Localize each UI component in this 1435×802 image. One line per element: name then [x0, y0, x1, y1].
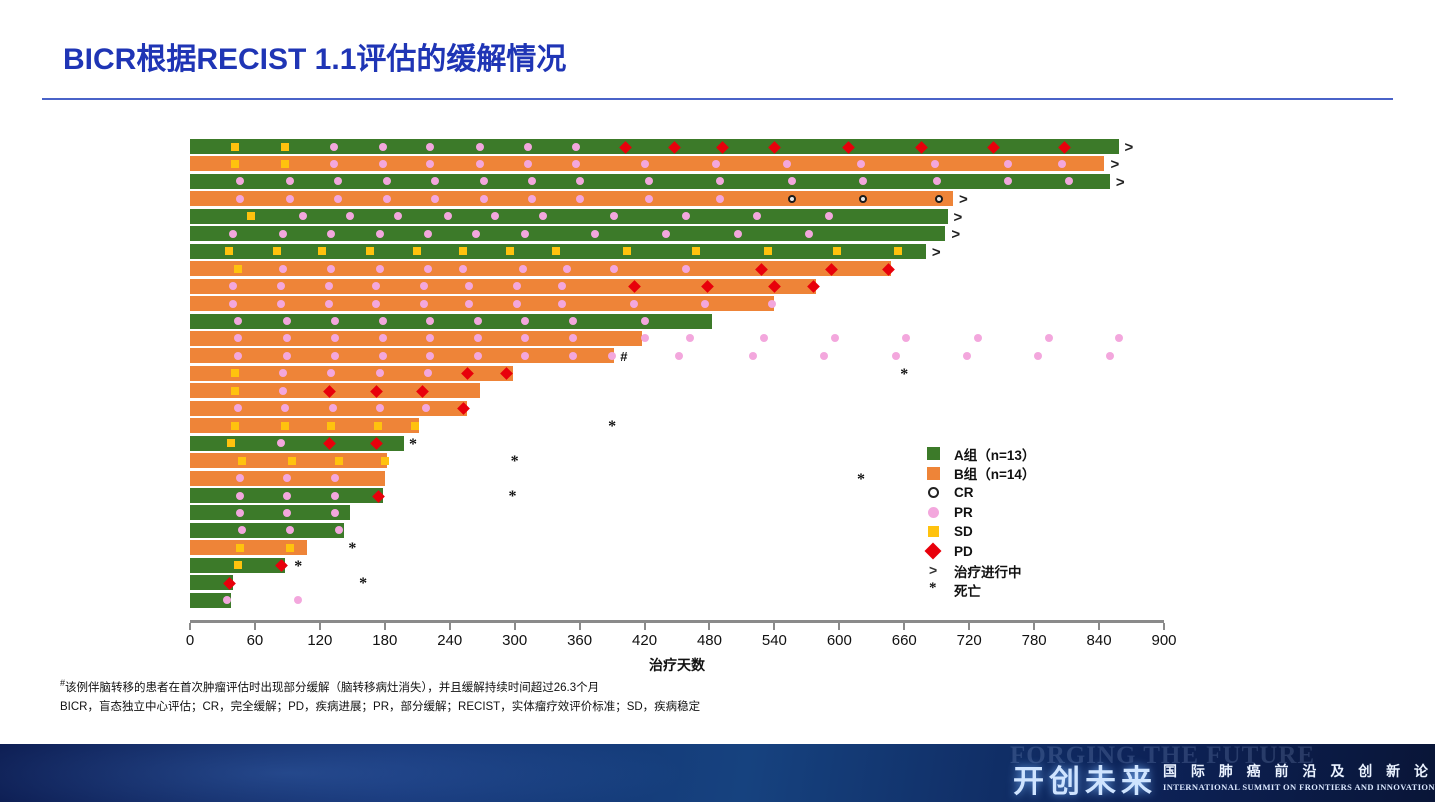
x-tick-120 — [319, 623, 321, 630]
marker-sd-row-17 — [281, 422, 289, 430]
marker-sd-row-24 — [236, 544, 244, 552]
marker-cr-row-4 — [788, 195, 796, 203]
marker-pr-row-6 — [662, 230, 670, 238]
marker-pr-row-11 — [331, 317, 339, 325]
marker-pr-row-13 — [234, 352, 242, 360]
marker-pr-row-1 — [379, 143, 387, 151]
marker-pr-row-8 — [519, 265, 527, 273]
marker-pr-row-6 — [591, 230, 599, 238]
x-tick-label-660: 660 — [892, 632, 917, 649]
marker-pr-row-11 — [474, 317, 482, 325]
marker-pr-row-6 — [279, 230, 287, 238]
marker-sd-row-7 — [459, 247, 467, 255]
x-tick-label-360: 360 — [567, 632, 592, 649]
arrow-right-icon: > — [920, 561, 946, 580]
marker-pr-row-10 — [325, 300, 333, 308]
death-marker-row-14: * — [900, 367, 908, 383]
marker-sd-row-18 — [227, 439, 235, 447]
marker-pr-row-13 — [379, 352, 387, 360]
legend-label: PR — [946, 505, 973, 520]
x-tick-900 — [1163, 623, 1165, 630]
footnote-hash: #该例伴脑转移的患者在首次肿瘤评估时出现部分缓解（脑转移病灶消失），并且缓解持续… — [60, 676, 700, 698]
legend-label: 死亡 — [946, 580, 981, 600]
marker-pr-row-10 — [768, 300, 776, 308]
marker-pr-row-4 — [286, 195, 294, 203]
death-marker-row-20: * — [857, 472, 865, 488]
x-tick-840 — [1098, 623, 1100, 630]
marker-pr-row-11 — [641, 317, 649, 325]
x-tick-label-600: 600 — [827, 632, 852, 649]
marker-pr-row-13 — [749, 352, 757, 360]
marker-pr-row-3 — [286, 177, 294, 185]
legend-item-circle-open[interactable]: CR — [920, 483, 1035, 503]
marker-pr-row-12 — [1045, 334, 1053, 342]
x-tick-label-780: 780 — [1022, 632, 1047, 649]
marker-sd-row-17 — [374, 422, 382, 430]
ongoing-arrow-row-2: > — [1110, 157, 1119, 172]
swimmer-plot: >>>>>>>#*********06012018024030036042048… — [0, 0, 1435, 700]
marker-sd-row-7 — [623, 247, 631, 255]
patient-bar-row-6[interactable] — [190, 226, 945, 241]
marker-pr-row-9 — [420, 282, 428, 290]
x-tick-720 — [968, 623, 970, 630]
x-tick-660 — [903, 623, 905, 630]
marker-pr-row-1 — [476, 143, 484, 151]
patient-bar-row-17[interactable] — [190, 418, 419, 433]
marker-sd-row-7 — [894, 247, 902, 255]
marker-pr-row-10 — [513, 300, 521, 308]
marker-pr-row-10 — [558, 300, 566, 308]
marker-sd-row-24 — [286, 544, 294, 552]
marker-sd-row-7 — [413, 247, 421, 255]
footnote-abbrev: BICR，盲态独立中心评估；CR，完全缓解；PD，疾病进展；PR，部分缓解；RE… — [60, 698, 700, 717]
marker-sd-row-7 — [318, 247, 326, 255]
marker-sd-row-2 — [281, 160, 289, 168]
marker-pr-row-9 — [277, 282, 285, 290]
marker-pr-row-12 — [760, 334, 768, 342]
asterisk-icon: * — [920, 581, 946, 600]
death-marker-row-19: * — [511, 454, 519, 470]
marker-pr-row-9 — [325, 282, 333, 290]
marker-pr-row-12 — [902, 334, 910, 342]
death-marker-row-24: * — [348, 541, 356, 557]
marker-pr-row-20 — [331, 474, 339, 482]
death-marker-row-18: * — [409, 437, 417, 453]
marker-pr-row-4 — [645, 195, 653, 203]
marker-pr-row-5 — [444, 212, 452, 220]
marker-sd-row-1 — [281, 143, 289, 151]
marker-pr-row-8 — [327, 265, 335, 273]
marker-pr-row-12 — [641, 334, 649, 342]
marker-pr-row-4 — [431, 195, 439, 203]
marker-pr-row-1 — [524, 143, 532, 151]
patient-bar-row-4[interactable] — [190, 191, 953, 206]
x-tick-label-300: 300 — [502, 632, 527, 649]
marker-pr-row-2 — [524, 160, 532, 168]
marker-pr-row-13 — [474, 352, 482, 360]
marker-pr-row-20 — [236, 474, 244, 482]
x-tick-360 — [579, 623, 581, 630]
marker-pr-row-13 — [569, 352, 577, 360]
marker-pr-row-2 — [379, 160, 387, 168]
marker-sd-row-8 — [234, 265, 242, 273]
marker-sd-row-7 — [506, 247, 514, 255]
marker-sd-row-1 — [231, 143, 239, 151]
legend-item-asterisk[interactable]: *死亡 — [920, 581, 1035, 601]
patient-bar-row-13[interactable] — [190, 348, 614, 363]
marker-sd-row-17 — [231, 422, 239, 430]
marker-pr-row-6 — [805, 230, 813, 238]
x-tick-label-900: 900 — [1151, 632, 1176, 649]
circle-open-icon — [920, 483, 946, 502]
marker-pr-row-6 — [734, 230, 742, 238]
patient-bar-row-8[interactable] — [190, 261, 891, 276]
marker-pr-row-5 — [299, 212, 307, 220]
marker-pr-row-3 — [431, 177, 439, 185]
marker-pr-row-16 — [234, 404, 242, 412]
marker-sd-row-17 — [327, 422, 335, 430]
marker-sd-row-7 — [692, 247, 700, 255]
marker-pr-row-18 — [277, 439, 285, 447]
marker-pr-row-12 — [974, 334, 982, 342]
marker-pr-row-2 — [931, 160, 939, 168]
marker-pr-row-8 — [424, 265, 432, 273]
marker-pr-row-21 — [236, 492, 244, 500]
x-axis-title: 治疗天数 — [649, 655, 705, 675]
marker-pr-row-13 — [608, 352, 616, 360]
marker-pr-row-15 — [279, 387, 287, 395]
marker-pr-row-8 — [459, 265, 467, 273]
chart-legend: A组（n=13）B组（n=14）CRPRSDPD>治疗进行中*死亡 — [920, 444, 1035, 600]
footnote-1-text: 该例伴脑转移的患者在首次肿瘤评估时出现部分缓解（脑转移病灶消失），并且缓解持续时… — [65, 682, 599, 694]
square-orange-icon — [920, 464, 946, 483]
marker-sd-row-15 — [231, 387, 239, 395]
marker-pr-row-13 — [675, 352, 683, 360]
marker-pr-row-2 — [641, 160, 649, 168]
x-tick-label-0: 0 — [186, 632, 194, 649]
x-tick-480 — [708, 623, 710, 630]
death-marker-row-26: * — [359, 576, 367, 592]
x-tick-label-60: 60 — [247, 632, 264, 649]
x-tick-300 — [514, 623, 516, 630]
marker-pr-row-3 — [576, 177, 584, 185]
marker-pr-row-6 — [327, 230, 335, 238]
legend-label: 治疗进行中 — [946, 561, 1022, 581]
marker-pr-row-2 — [857, 160, 865, 168]
marker-pr-row-10 — [229, 300, 237, 308]
footer-subtitle-en: INTERNATIONAL SUMMIT ON FRONTIERS AND IN… — [1163, 782, 1435, 792]
marker-pr-row-8 — [610, 265, 618, 273]
x-tick-label-180: 180 — [372, 632, 397, 649]
marker-pr-row-10 — [701, 300, 709, 308]
x-tick-label-480: 480 — [697, 632, 722, 649]
marker-pr-row-12 — [831, 334, 839, 342]
legend-item-arrow-right[interactable]: >治疗进行中 — [920, 561, 1035, 581]
marker-pr-row-5 — [682, 212, 690, 220]
ongoing-arrow-row-7: > — [932, 245, 941, 260]
marker-sd-row-19 — [238, 457, 246, 465]
circle-pink-icon — [920, 503, 946, 522]
square-green-icon — [920, 444, 946, 463]
x-tick-label-120: 120 — [307, 632, 332, 649]
marker-sd-row-25 — [234, 561, 242, 569]
marker-sd-row-19 — [335, 457, 343, 465]
marker-pr-row-10 — [465, 300, 473, 308]
marker-pr-row-13 — [1034, 352, 1042, 360]
ongoing-arrow-row-4: > — [959, 192, 968, 207]
marker-pr-row-4 — [528, 195, 536, 203]
marker-pr-row-12 — [1115, 334, 1123, 342]
marker-pr-row-10 — [277, 300, 285, 308]
x-tick-240 — [449, 623, 451, 630]
x-tick-780 — [1033, 623, 1035, 630]
marker-pr-row-2 — [330, 160, 338, 168]
marker-pr-row-8 — [279, 265, 287, 273]
marker-sd-row-14 — [231, 369, 239, 377]
marker-sd-row-7 — [833, 247, 841, 255]
legend-item-circle-pink[interactable]: PR — [920, 503, 1035, 523]
marker-sd-row-7 — [764, 247, 772, 255]
marker-sd-row-19 — [381, 457, 389, 465]
marker-pr-row-5 — [825, 212, 833, 220]
marker-sd-row-2 — [231, 160, 239, 168]
legend-item-diamond-red[interactable]: PD — [920, 542, 1035, 562]
marker-pr-row-4 — [383, 195, 391, 203]
marker-sd-row-7 — [225, 247, 233, 255]
legend-label: PD — [946, 544, 973, 559]
marker-pr-row-1 — [572, 143, 580, 151]
marker-pr-row-11 — [234, 317, 242, 325]
marker-pr-row-2 — [712, 160, 720, 168]
x-tick-label-720: 720 — [957, 632, 982, 649]
legend-item-square-green[interactable]: A组（n=13） — [920, 444, 1035, 464]
marker-sd-row-7 — [366, 247, 374, 255]
marker-pr-row-4 — [576, 195, 584, 203]
death-marker-row-17: * — [608, 419, 616, 435]
marker-pr-row-6 — [472, 230, 480, 238]
patient-bar-row-23[interactable] — [190, 523, 344, 538]
death-marker-row-25: * — [294, 559, 302, 575]
patient-bar-row-22[interactable] — [190, 505, 350, 520]
marker-pr-row-10 — [630, 300, 638, 308]
marker-pr-row-10 — [372, 300, 380, 308]
ongoing-arrow-row-5: > — [954, 210, 963, 225]
x-axis-line — [190, 620, 1164, 623]
x-tick-420 — [644, 623, 646, 630]
marker-pr-row-21 — [283, 492, 291, 500]
marker-pr-row-6 — [229, 230, 237, 238]
x-tick-600 — [838, 623, 840, 630]
hash-note-row-13: # — [620, 350, 627, 363]
marker-sd-row-5 — [247, 212, 255, 220]
marker-pr-row-27 — [223, 596, 231, 604]
marker-pr-row-4 — [236, 195, 244, 203]
marker-pr-row-12 — [686, 334, 694, 342]
diamond-red-icon — [920, 542, 946, 561]
marker-pr-row-6 — [424, 230, 432, 238]
footer-brand-cn: 开创未来 — [1013, 756, 1157, 801]
marker-sd-row-7 — [552, 247, 560, 255]
x-tick-label-420: 420 — [632, 632, 657, 649]
marker-cr-row-4 — [859, 195, 867, 203]
marker-pr-row-23 — [286, 526, 294, 534]
legend-label: CR — [946, 485, 974, 500]
marker-pr-row-13 — [1106, 352, 1114, 360]
legend-item-square-yellow[interactable]: SD — [920, 522, 1035, 542]
x-tick-180 — [384, 623, 386, 630]
legend-label: A组（n=13） — [946, 444, 1035, 464]
marker-pr-row-9 — [513, 282, 521, 290]
marker-pr-row-10 — [420, 300, 428, 308]
marker-pr-row-27 — [294, 596, 302, 604]
marker-pr-row-13 — [963, 352, 971, 360]
marker-cr-row-4 — [935, 195, 943, 203]
marker-pr-row-21 — [331, 492, 339, 500]
ongoing-arrow-row-3: > — [1116, 175, 1125, 190]
x-tick-label-840: 840 — [1087, 632, 1112, 649]
legend-item-square-orange[interactable]: B组（n=14） — [920, 464, 1035, 484]
marker-pr-row-13 — [892, 352, 900, 360]
marker-pr-row-22 — [331, 509, 339, 517]
marker-pr-row-1 — [330, 143, 338, 151]
x-tick-60 — [254, 623, 256, 630]
patient-bar-row-11[interactable] — [190, 314, 712, 329]
square-yellow-icon — [920, 522, 946, 541]
marker-pr-row-13 — [331, 352, 339, 360]
footer-banner: FORGING THE FUTURE 开创未来 国 际 肺 癌 前 沿 及 创 … — [0, 744, 1435, 802]
marker-pr-row-11 — [379, 317, 387, 325]
x-tick-label-540: 540 — [762, 632, 787, 649]
marker-pr-row-2 — [476, 160, 484, 168]
marker-pr-row-1 — [426, 143, 434, 151]
marker-pr-row-22 — [236, 509, 244, 517]
legend-label: SD — [946, 524, 973, 539]
death-marker-row-21: * — [509, 489, 517, 505]
marker-sd-row-7 — [273, 247, 281, 255]
footer-subtitle-cn: 国 际 肺 癌 前 沿 及 创 新 论 坛 — [1163, 761, 1435, 781]
x-tick-0 — [189, 623, 191, 630]
x-tick-540 — [773, 623, 775, 630]
x-tick-label-240: 240 — [437, 632, 462, 649]
marker-pr-row-8 — [563, 265, 571, 273]
marker-sd-row-17 — [411, 422, 419, 430]
marker-sd-row-19 — [288, 457, 296, 465]
marker-pr-row-13 — [820, 352, 828, 360]
footnotes: #该例伴脑转移的患者在首次肿瘤评估时出现部分缓解（脑转移病灶消失），并且缓解持续… — [60, 676, 700, 717]
legend-label: B组（n=14） — [946, 463, 1035, 483]
marker-pr-row-8 — [682, 265, 690, 273]
ongoing-arrow-row-1: > — [1125, 140, 1134, 155]
ongoing-arrow-row-6: > — [951, 227, 960, 242]
